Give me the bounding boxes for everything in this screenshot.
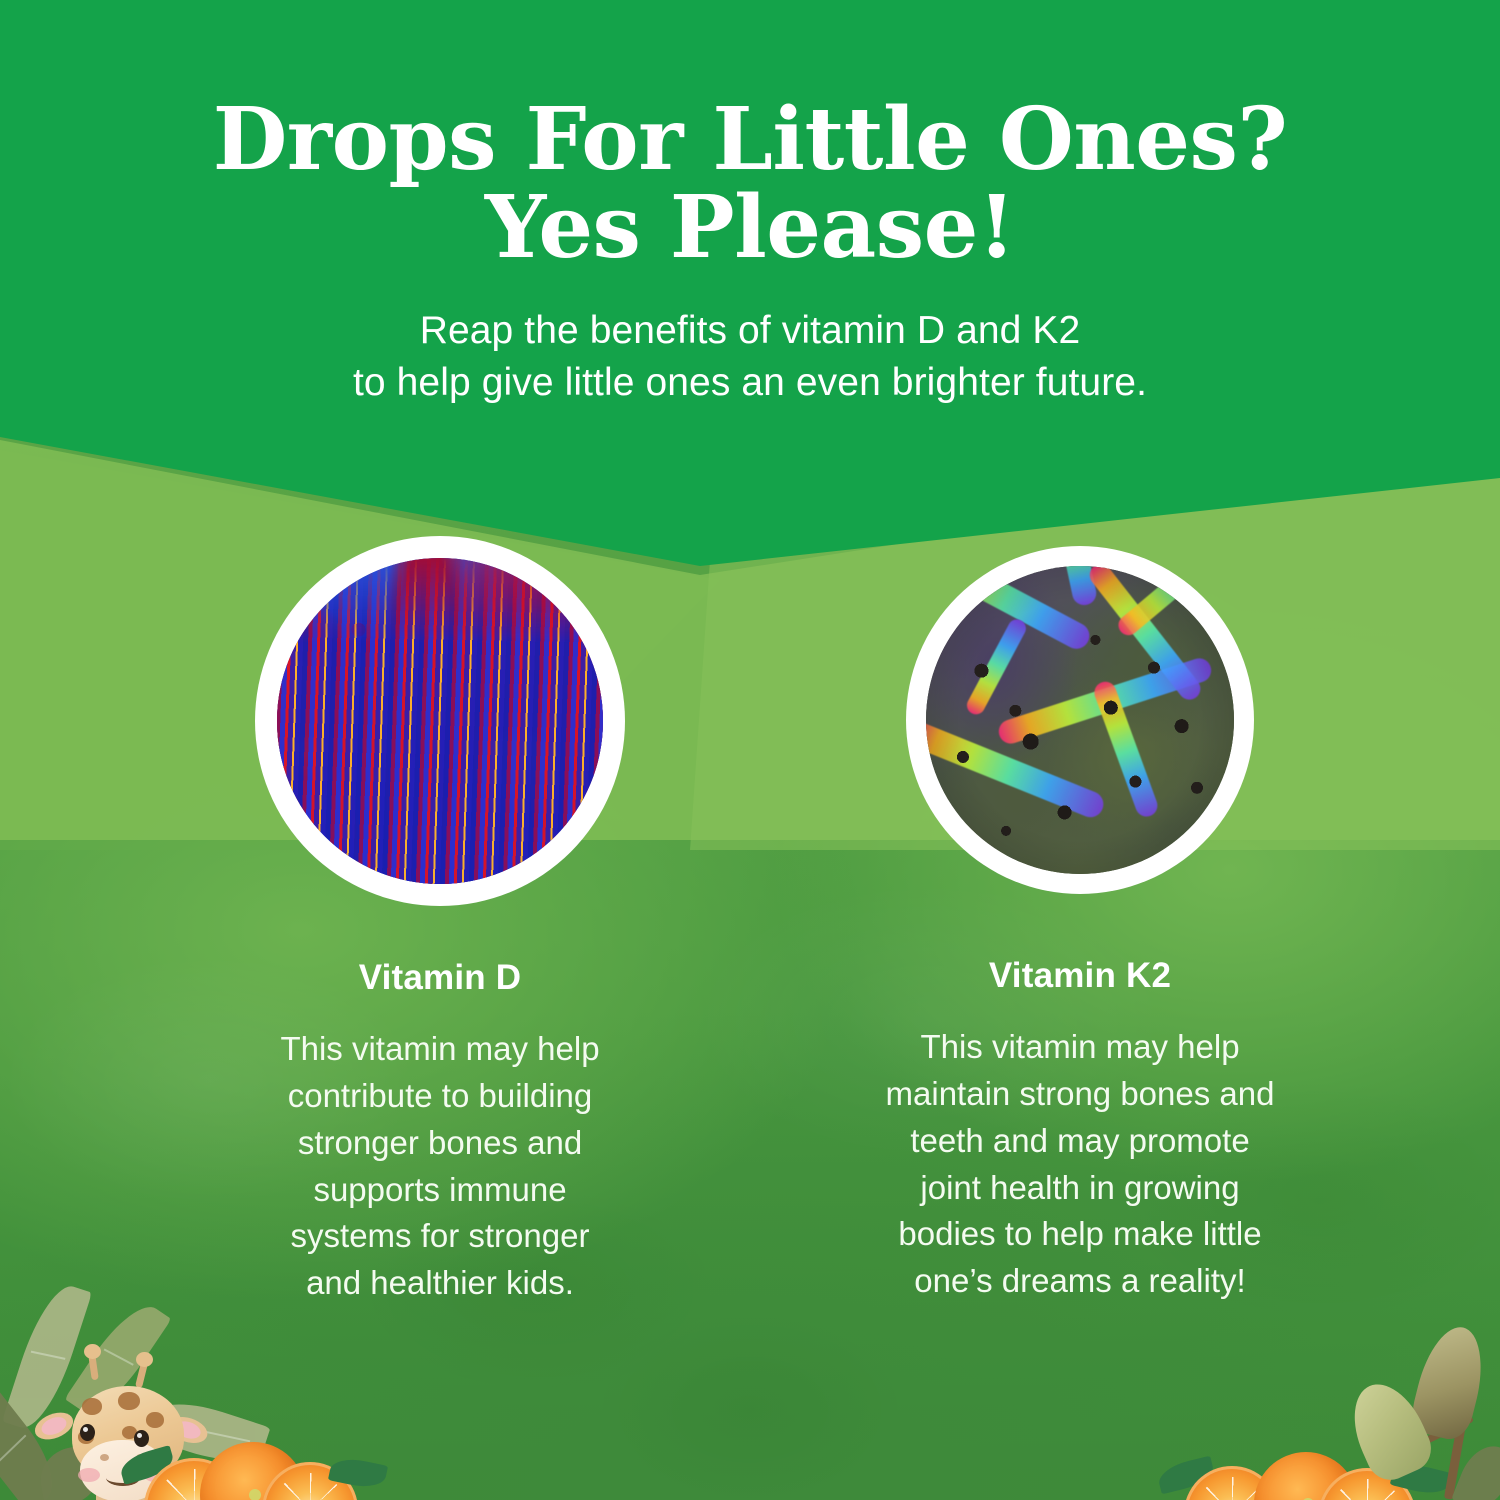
vitamin-k2-line: one’s dreams a reality! [864,1258,1296,1305]
column-vitamin-d: Vitamin D This vitamin may help contribu… [210,536,670,1307]
crystal-spike-fringe [277,558,603,884]
vitamin-d-line: and healthier kids. [224,1260,656,1307]
vitamin-k2-bone-image [926,566,1234,874]
vitamin-k2-heading: Vitamin K2 [850,956,1310,996]
vitamin-k2-description: This vitamin may help maintain strong bo… [850,1024,1310,1305]
vitamin-d-crystal-image [277,558,603,884]
vitamin-d-line: supports immune [224,1167,656,1214]
vitamin-d-line: stronger bones and [224,1120,656,1167]
column-vitamin-k2: Vitamin K2 This vitamin may help maintai… [850,536,1310,1305]
vitamin-k2-line: teeth and may promote [864,1118,1296,1165]
infographic-canvas: Drops For Little Ones? Yes Please! Reap … [0,0,1500,1500]
vitamin-d-line: systems for stronger [224,1213,656,1260]
vitamin-d-circle-frame [255,536,625,906]
vitamin-d-line: This vitamin may help [224,1026,656,1073]
vitamin-d-heading: Vitamin D [210,958,670,998]
vitamin-columns: Vitamin D This vitamin may help contribu… [0,0,1500,1500]
vitamin-k2-line: bodies to help make little [864,1211,1296,1258]
vitamin-k2-line: joint health in growing [864,1165,1296,1212]
vitamin-k2-circle-frame [906,546,1254,894]
vitamin-k2-line: This vitamin may help [864,1024,1296,1071]
vitamin-d-line: contribute to building [224,1073,656,1120]
vitamin-d-description: This vitamin may help contribute to buil… [210,1026,670,1307]
bone-vignette [926,566,1234,874]
vitamin-k2-line: maintain strong bones and [864,1071,1296,1118]
